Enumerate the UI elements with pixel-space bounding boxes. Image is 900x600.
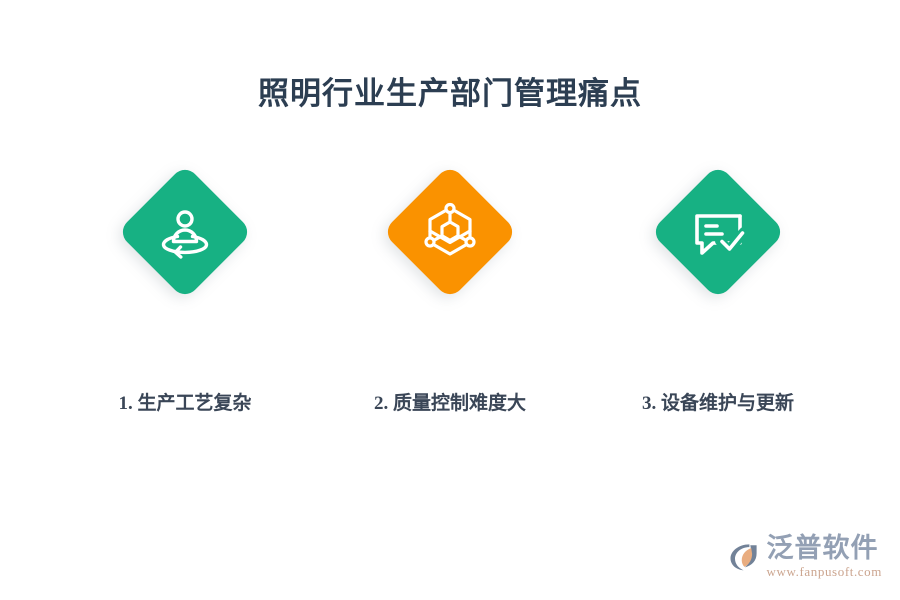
pain-point-caption-1: 1. 生产工艺复杂 — [70, 388, 300, 415]
fanpu-logo-mark-icon — [726, 539, 762, 575]
hexagon-network-icon — [418, 200, 482, 264]
pain-point-cards: 1. 生产工艺复杂 — [0, 160, 900, 430]
diamond-badge-3 — [603, 160, 833, 310]
infographic-page: 照明行业生产部门管理痛点 1. 生产工艺复杂 — [0, 0, 900, 600]
person-rotate-icon — [153, 200, 217, 264]
diamond-badge-1 — [70, 160, 300, 310]
pain-point-caption-3: 3. 设备维护与更新 — [603, 388, 833, 415]
pain-point-caption-2: 2. 质量控制难度大 — [335, 388, 565, 415]
chat-check-icon — [686, 200, 750, 264]
watermark-text: 泛普软件 www.fanpusoft.com — [766, 534, 882, 579]
pain-point-card-1: 1. 生产工艺复杂 — [70, 160, 300, 430]
brand-name: 泛普软件 — [766, 534, 882, 562]
watermark-logo: 泛普软件 www.fanpusoft.com — [726, 528, 882, 586]
pain-point-card-2: 2. 质量控制难度大 — [335, 160, 565, 430]
diamond-badge-2 — [335, 160, 565, 310]
page-title: 照明行业生产部门管理痛点 — [0, 68, 900, 113]
pain-point-card-3: 3. 设备维护与更新 — [603, 160, 833, 430]
brand-url: www.fanpusoft.com — [766, 564, 882, 580]
